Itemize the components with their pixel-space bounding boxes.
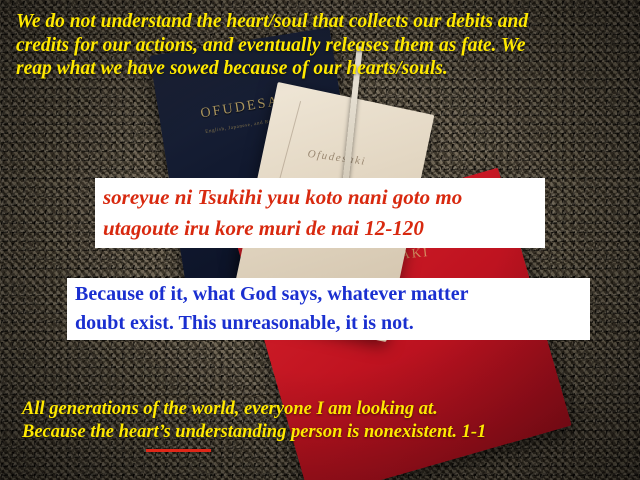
top-caption-line-2: credits for our actions, and eventually … — [16, 34, 628, 58]
bottom-caption-line-2: Because the heart’s understanding person… — [22, 421, 630, 444]
top-caption: We do not understand the heart/soul that… — [16, 10, 628, 81]
bottom-caption: All generations of the world, everyone I… — [22, 398, 630, 444]
top-caption-line-3: reap what we have sowed because of our h… — [16, 57, 628, 81]
romaji-text-box: soreyue ni Tsukihi yuu koto nani goto mo… — [95, 178, 545, 248]
top-caption-line-1: We do not understand the heart/soul that… — [16, 10, 628, 34]
translation-line-2: doubt exist. This unreasonable, it is no… — [75, 309, 582, 338]
romaji-line-1: soreyue ni Tsukihi yuu koto nani goto mo — [103, 182, 537, 213]
translation-text-box: Because of it, what God says, whatever m… — [67, 278, 590, 340]
romaji-line-2: utagoute iru kore muri de nai 12-120 — [103, 213, 537, 244]
translation-line-1: Because of it, what God says, whatever m… — [75, 280, 582, 309]
slide-canvas: OFUDESAKI English, Japanese, and Romaniz… — [0, 0, 640, 480]
red-underline-mark — [146, 449, 211, 452]
bottom-caption-line-1: All generations of the world, everyone I… — [22, 398, 630, 421]
